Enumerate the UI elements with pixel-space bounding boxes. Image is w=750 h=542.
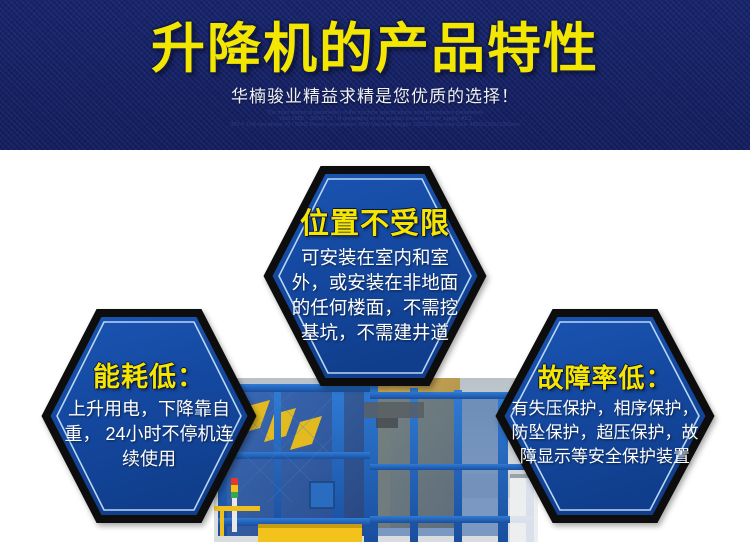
product-photo bbox=[214, 378, 538, 542]
spec-paragraph: The main technical parameters of the mac… bbox=[0, 110, 750, 128]
header-banner: 升降机的产品特性 华楠骏业精益求精是您优质的选择！ The main techn… bbox=[0, 0, 750, 150]
page-subtitle: 华楠骏业精益求精是您优质的选择！ bbox=[0, 86, 750, 108]
page-title: 升降机的产品特性 bbox=[0, 20, 750, 78]
spec-line-3: 38V ± 10% two-phase 50 / 60HZ Power cons… bbox=[0, 122, 750, 128]
feature-hexagon-low-energy-consumption[interactable]: 能耗低： 上升用电，下降靠自重， 24小时不停机连续使用 bbox=[38, 305, 260, 527]
feature-hexagon-position-unrestricted[interactable]: 位置不受限 可安装在室内和室外，或安装在非地面的任何楼面，不需挖基坑，不需建井道 bbox=[260, 162, 490, 390]
promo-page: 升降机的产品特性 华楠骏业精益求精是您优质的选择！ The main techn… bbox=[0, 0, 750, 542]
feature-hexagon-low-failure-rate[interactable]: 故障率低： 有失压保护，相序保护，防坠保护，超压保护，故障显示等安全保护装置 bbox=[492, 305, 718, 527]
